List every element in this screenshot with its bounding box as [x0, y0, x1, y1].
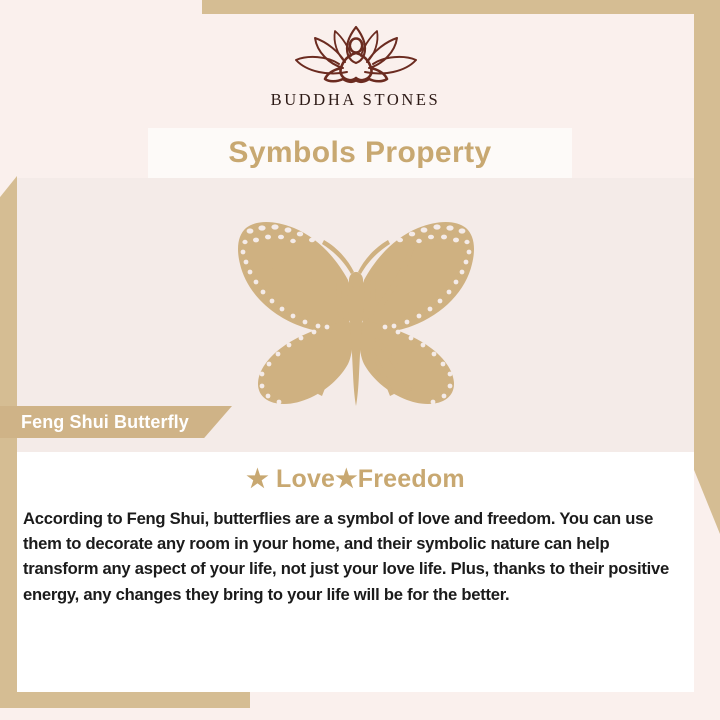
page-title: Symbols Property [228, 136, 491, 170]
frame-left-accent [0, 176, 17, 704]
frame-right-accent [694, 0, 720, 534]
category-banner: Feng Shui Butterfly [0, 406, 232, 438]
brand-name: BUDDHA STONES [271, 90, 441, 110]
lotus-meditation-icon [277, 22, 435, 88]
content-section: ★ Love★Freedom According to Feng Shui, b… [17, 452, 694, 692]
brand-header: BUDDHA STONES [17, 16, 694, 128]
monarch-butterfly-icon [196, 214, 516, 410]
title-bar: Symbols Property [148, 128, 572, 178]
frame-top-left-gap [0, 0, 202, 16]
bottom-strip [0, 708, 720, 720]
page-root: BUDDHA STONES Symbols Property [0, 0, 720, 720]
frame-top-accent [200, 0, 720, 14]
content-paragraph: According to Feng Shui, butterflies are … [23, 506, 688, 607]
content-subtitle: ★ Love★Freedom [17, 464, 694, 494]
frame-bottom-accent [0, 692, 250, 708]
category-banner-label: Feng Shui Butterfly [21, 412, 189, 433]
